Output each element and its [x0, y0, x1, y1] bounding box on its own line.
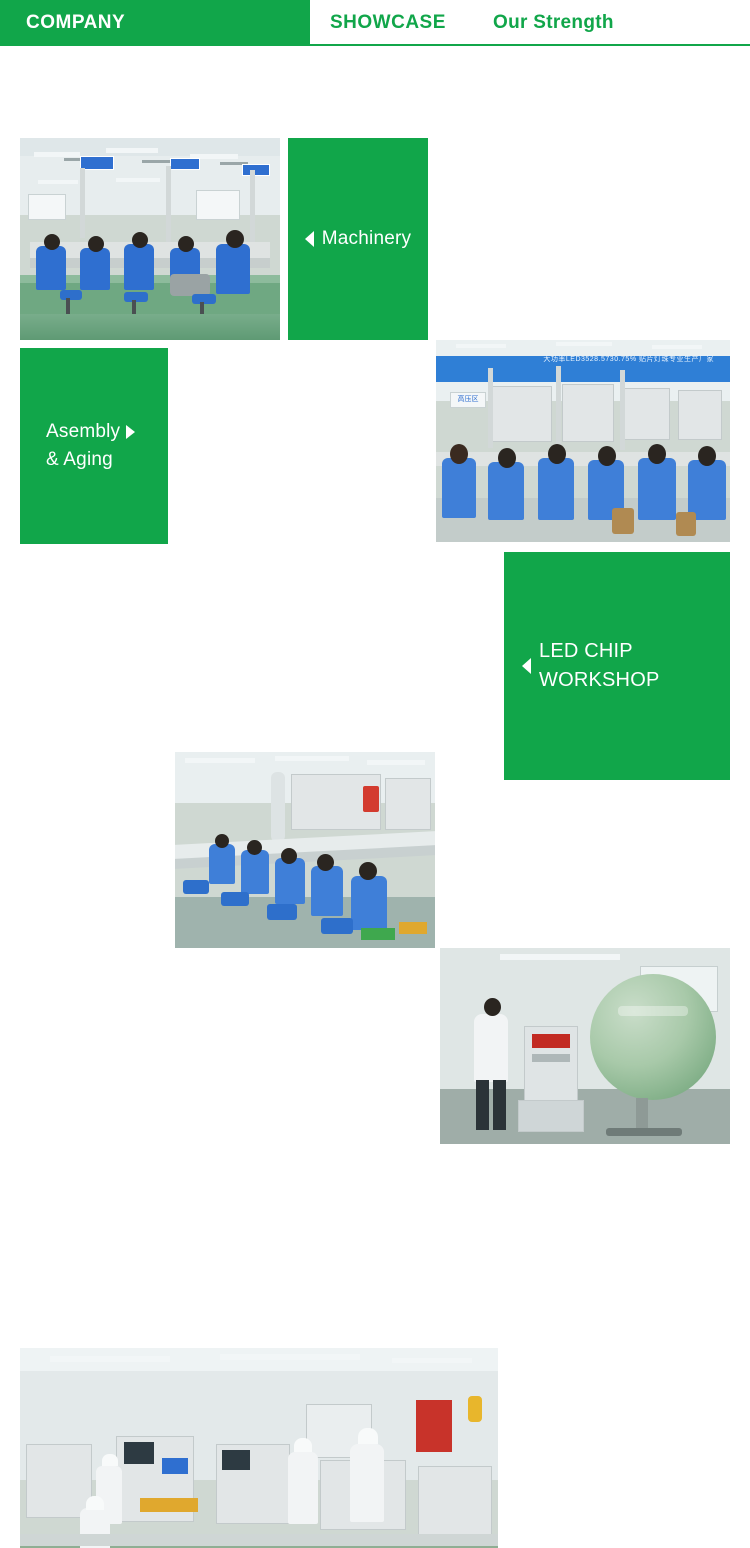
worker-head [44, 234, 60, 250]
panel-aging-label: & Aging [46, 446, 135, 474]
worker-head [498, 448, 516, 468]
support-post [80, 168, 85, 238]
chair [321, 918, 353, 934]
die-bonder [26, 1444, 92, 1518]
support-post [556, 366, 561, 450]
ceiling-lamp [185, 758, 255, 763]
ceiling-lamp [556, 342, 612, 346]
worker-head [132, 232, 148, 248]
engineer-leg [476, 1080, 489, 1130]
worker-head [648, 444, 666, 464]
floor-reflection [20, 314, 280, 340]
worker-head [247, 840, 262, 855]
warning-light [468, 1396, 482, 1422]
machine-monitor [222, 1450, 250, 1470]
duct [271, 772, 285, 842]
worker-head [698, 446, 716, 466]
engineer-leg [493, 1080, 506, 1130]
ceiling-lamp [275, 756, 349, 761]
showcase-grid: Machinery 大功率LED3528.5730.75% 贴片灯珠专业生产厂家… [0, 46, 750, 774]
worker [275, 858, 305, 904]
ceiling-lamp [367, 760, 425, 765]
stool [124, 292, 148, 302]
banner-text: 大功率LED3528.5730.75% 贴片灯珠专业生产厂家 [446, 352, 720, 368]
stool [60, 290, 82, 300]
worker [311, 866, 343, 916]
worker [538, 458, 574, 520]
stool [192, 294, 216, 304]
worker-head [226, 230, 244, 248]
wall-sign [242, 164, 270, 176]
ceiling-lamp [106, 148, 158, 153]
photo-electronics-workshop: 大功率LED3528.5730.75% 贴片灯珠专业生产厂家 高压区 [436, 340, 730, 542]
ceiling-lamp [38, 180, 78, 184]
arrow-right-icon [126, 425, 135, 439]
wall-panel [196, 190, 240, 220]
panel-assembly-label: Asembly [46, 421, 120, 442]
panel-assembly-aging[interactable]: Asembly & Aging [20, 348, 168, 544]
machine-monitor [124, 1442, 154, 1464]
instrument-display [532, 1034, 570, 1048]
worker-head [215, 834, 229, 848]
worker-head [450, 444, 468, 464]
worker [216, 244, 250, 294]
panel-machinery[interactable]: Machinery [288, 138, 428, 340]
panel-led-chip-line2: WORKSHOP [539, 666, 660, 695]
panel-machinery-label: Machinery [322, 225, 411, 253]
operator-cap [102, 1454, 118, 1466]
worker-head [281, 848, 297, 864]
sphere-label [618, 1006, 688, 1016]
ceiling-lamp [500, 954, 620, 960]
photo-assembly-line-seated [20, 138, 280, 340]
stool [676, 512, 696, 536]
rack [624, 388, 670, 440]
instrument-base [518, 1100, 584, 1132]
support-post [166, 166, 171, 244]
ceiling-lamp [50, 1356, 170, 1362]
worker [80, 248, 110, 290]
arrow-left-icon [305, 231, 314, 247]
worker-head [598, 446, 616, 466]
photo-aging-line [175, 752, 435, 948]
operator-cap [294, 1438, 312, 1452]
ceiling-lamp [34, 152, 80, 157]
wall-sign [80, 156, 114, 170]
stool [612, 508, 634, 534]
header-green-tail [272, 0, 310, 46]
machine-panel [162, 1458, 188, 1474]
worker [124, 244, 154, 290]
parts-tray [140, 1498, 198, 1512]
sphere-stand [636, 1098, 648, 1132]
operator [350, 1444, 384, 1522]
worker-head [178, 236, 194, 252]
worker [36, 246, 66, 290]
ceiling-fan [142, 160, 172, 163]
worker [638, 458, 676, 520]
operator [288, 1452, 318, 1524]
photo-integrating-sphere-lab [440, 948, 730, 1144]
bench-equipment [170, 274, 210, 296]
parts-bin [399, 922, 427, 934]
operator-cap [358, 1428, 378, 1444]
rack [678, 390, 722, 440]
rack [562, 384, 614, 442]
ceiling-lamp [116, 178, 160, 182]
ceiling-lamp [220, 1354, 360, 1360]
integrating-sphere [590, 974, 716, 1100]
support-post [250, 170, 255, 244]
work-bench [436, 452, 730, 466]
worker [688, 460, 726, 520]
worker [351, 876, 387, 930]
chair [221, 892, 249, 906]
wall-panel [28, 194, 66, 220]
our-strength-label: Our Strength [493, 12, 614, 34]
arrow-left-icon [522, 658, 531, 674]
photo-led-chip-workshop [20, 1348, 498, 1548]
support-post [488, 368, 493, 448]
floor [175, 897, 435, 948]
fire-extinguisher [363, 786, 379, 812]
ceiling-lamp [392, 1358, 472, 1363]
engineer-coat [474, 1014, 508, 1082]
zone-sign-text: 高压区 [452, 394, 484, 406]
parts-bin [361, 928, 395, 940]
support-post [620, 370, 625, 450]
worker [241, 850, 269, 894]
chair [183, 880, 209, 894]
worker-head [317, 854, 334, 871]
showcase-label: SHOWCASE [330, 12, 446, 34]
page-header: COMPANY SHOWCASE Our Strength [0, 0, 750, 46]
sphere-base [606, 1128, 682, 1136]
operator-cap [86, 1496, 104, 1510]
foreground-bench [20, 1534, 498, 1546]
back-machine [385, 778, 431, 830]
panel-led-chip-workshop[interactable]: LED CHIP WORKSHOP [504, 552, 730, 780]
worker [209, 844, 235, 884]
worker [442, 458, 476, 518]
company-label: COMPANY [26, 12, 125, 34]
instrument-panel [532, 1054, 570, 1062]
worker-head [88, 236, 104, 252]
panel-assembly-line1: Asembly [46, 418, 135, 446]
fire-cabinet [416, 1400, 452, 1452]
panel-led-chip-line1: LED CHIP [539, 637, 660, 666]
worker-head [548, 444, 566, 464]
chair [267, 904, 297, 920]
wall-sign [170, 158, 200, 170]
rack [492, 386, 552, 442]
ceiling-lamp [456, 344, 506, 348]
worker [488, 462, 524, 520]
engineer-head [484, 998, 501, 1016]
ceiling-lamp [652, 345, 702, 349]
die-bonder [418, 1466, 492, 1536]
worker-head [359, 862, 377, 880]
